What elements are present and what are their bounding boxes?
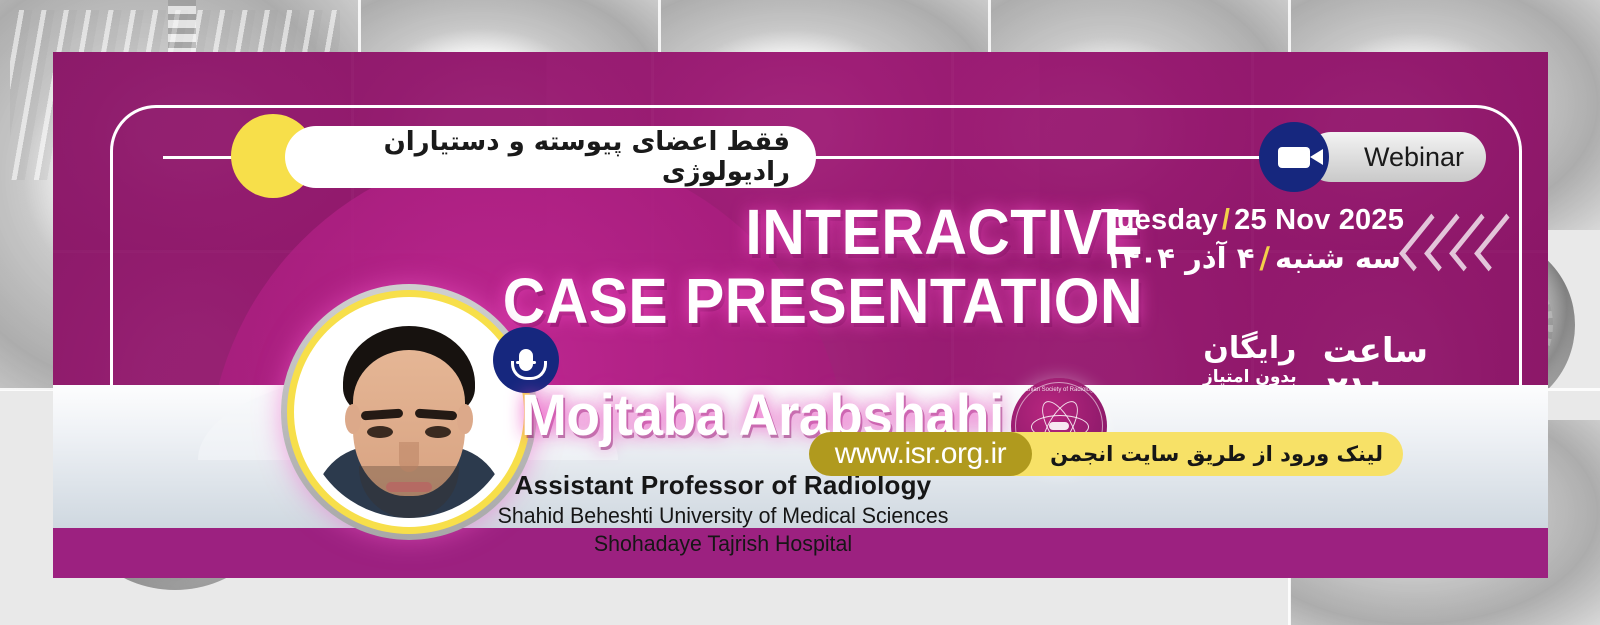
society-logo-name: Iranian Society of Radiology	[1011, 387, 1107, 393]
registration-link-bar[interactable]: www.isr.org.ir لینک ورود از طریق سایت ان…	[893, 432, 1403, 476]
webinar-badge: Webinar	[1306, 132, 1486, 182]
event-time-label: ساعت	[1323, 332, 1428, 370]
event-date-en: 25 Nov 2025	[1234, 204, 1404, 236]
speaker-affiliation-line2: Shohadaye Tajrish Hospital	[490, 531, 956, 557]
registration-link-note: لینک ورود از طریق سایت انجمن	[1050, 442, 1383, 466]
event-title: INTERACTIVE CASE PRESENTATION	[383, 202, 1143, 333]
event-weekday-en: Tuesday	[1101, 204, 1218, 236]
audience-notice-text: فقط اعضای پیوسته و دستیاران رادیولوژی	[325, 127, 790, 187]
video-camera-icon	[1259, 122, 1329, 192]
event-date: Tuesday/25 Nov 2025 سه شنبه/۴ آذر ۱۴۰۴	[1101, 204, 1401, 275]
event-date-english: Tuesday/25 Nov 2025	[1101, 204, 1401, 237]
banner-stage: فقط اعضای پیوسته و دستیاران رادیولوژی We…	[0, 0, 1600, 625]
website-url-pill[interactable]: www.isr.org.ir	[809, 432, 1032, 476]
event-weekday-fa: سه شنبه	[1275, 241, 1401, 275]
chevron-left-icon-group	[1411, 217, 1509, 268]
date-separator-fa: /	[1259, 241, 1270, 275]
poster-card: فقط اعضای پیوسته و دستیاران رادیولوژی We…	[53, 52, 1548, 578]
event-date-fa: ۴ آذر ۱۴۰۴	[1104, 241, 1254, 275]
website-url[interactable]: www.isr.org.ir	[835, 437, 1006, 471]
speaker-affiliation-line1: Shahid Beheshti University of Medical Sc…	[490, 503, 956, 529]
speaker-affiliation: Assistant Professor of Radiology Shahid …	[483, 470, 963, 557]
event-date-persian: سه شنبه/۴ آذر ۱۴۰۴	[1101, 241, 1401, 275]
event-title-line1: INTERACTIVE	[444, 202, 1143, 263]
date-separator: /	[1222, 204, 1230, 236]
audience-notice-pill: فقط اعضای پیوسته و دستیاران رادیولوژی	[285, 126, 816, 188]
event-fee-label: رایگان	[1203, 332, 1297, 365]
event-title-line2: CASE PRESENTATION	[444, 271, 1143, 332]
webinar-badge-label: Webinar	[1364, 142, 1464, 173]
